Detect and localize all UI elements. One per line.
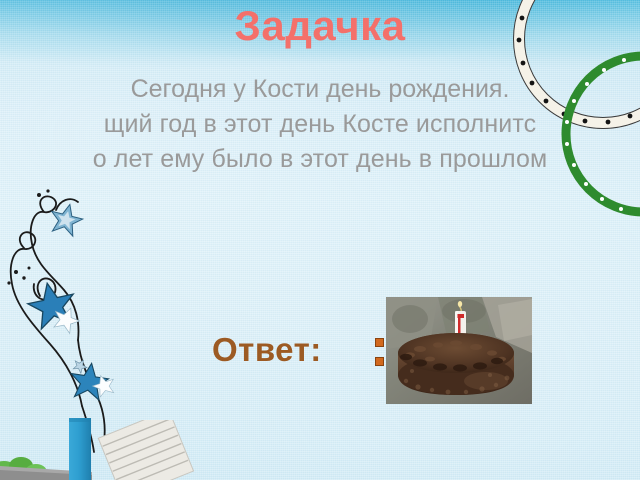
answer-label: Ответ:: [212, 331, 322, 369]
problem-line-2: щий год в этот день Косте исполнитс: [0, 107, 640, 142]
problem-statement: Сегодня у Кости день рождения. щий год в…: [0, 72, 640, 177]
image-selection-handle-top[interactable]: [375, 338, 384, 347]
image-selection-handle-bottom[interactable]: [375, 357, 384, 366]
blue-vase-icon: [68, 418, 94, 480]
white-stacked-ladder-icon: [90, 420, 200, 480]
black-dotted-ribbon-icon: [0, 406, 135, 480]
gray-plinth-icon: [0, 462, 92, 480]
birthday-cake-photo[interactable]: [386, 297, 532, 404]
blue-stars-vine-icon: [0, 186, 184, 456]
problem-line-1: Сегодня у Кости день рождения.: [0, 72, 640, 107]
slide-title: Задачка: [0, 4, 640, 48]
presentation-slide: Задачка Сегодня у Кости день рождения. щ…: [0, 0, 640, 480]
green-leaves-icon: [0, 450, 56, 480]
problem-line-3: о лет ему было в этот день в прошлом: [0, 142, 640, 177]
